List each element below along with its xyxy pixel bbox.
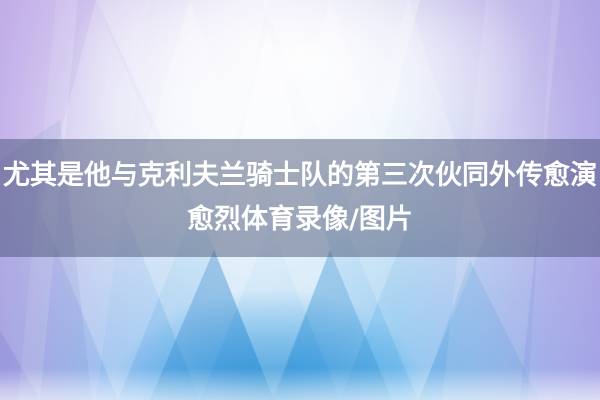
promo-banner: 尤其是他与克利夫兰骑士队的第三次伙同外传愈演 愈烈体育录像/图片 bbox=[0, 0, 600, 400]
facet-shade-mid bbox=[150, 250, 274, 400]
facet-shade-right bbox=[420, 260, 540, 400]
caption-line-1: 尤其是他与克利夫兰骑士队的第三次伙同外传愈演 bbox=[3, 154, 597, 198]
facet-shade-mid2 bbox=[272, 250, 392, 400]
caption-band: 尤其是他与克利夫兰骑士队的第三次伙同外传愈演 愈烈体育录像/图片 bbox=[0, 139, 600, 257]
caption-line-2: 愈烈体育录像/图片 bbox=[187, 198, 413, 242]
